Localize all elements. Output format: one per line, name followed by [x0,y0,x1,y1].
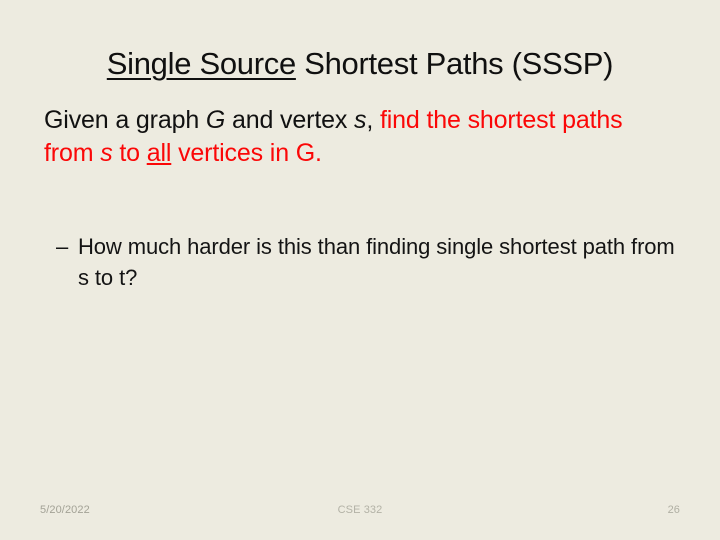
title-underlined-segment: Single Source [107,46,296,81]
title-container: Single Source Shortest Paths (SSSP) [0,24,720,104]
body-variable-s: s [354,106,366,134]
body-mid-text: and vertex [225,106,354,134]
body-highlight-part-2: to [113,139,147,167]
body-paragraph: Given a graph G and vertex s, find the s… [44,104,668,170]
page-title: Single Source Shortest Paths (SSSP) [107,45,613,83]
sub-bullet-item: – How much harder is this than finding s… [56,231,686,293]
title-plain-segment: Shortest Paths (SSSP) [296,46,613,81]
body-lead-text: Given a graph [44,106,206,134]
footer-page-number: 26 [620,503,680,518]
sub-bullet-label: How much harder is this than finding sin… [78,231,686,293]
body-comma: , [366,106,380,134]
dash-bullet-icon: – [56,231,78,262]
body-highlight-variable-s: s [100,139,112,167]
footer-course-name: CSE 332 [0,503,720,518]
body-variable-g: G [206,106,225,134]
body-highlight-part-3: vertices in G. [171,139,322,167]
body-highlight-emphasis-all: all [147,139,172,167]
slide-canvas: Single Source Shortest Paths (SSSP) Give… [0,0,720,540]
